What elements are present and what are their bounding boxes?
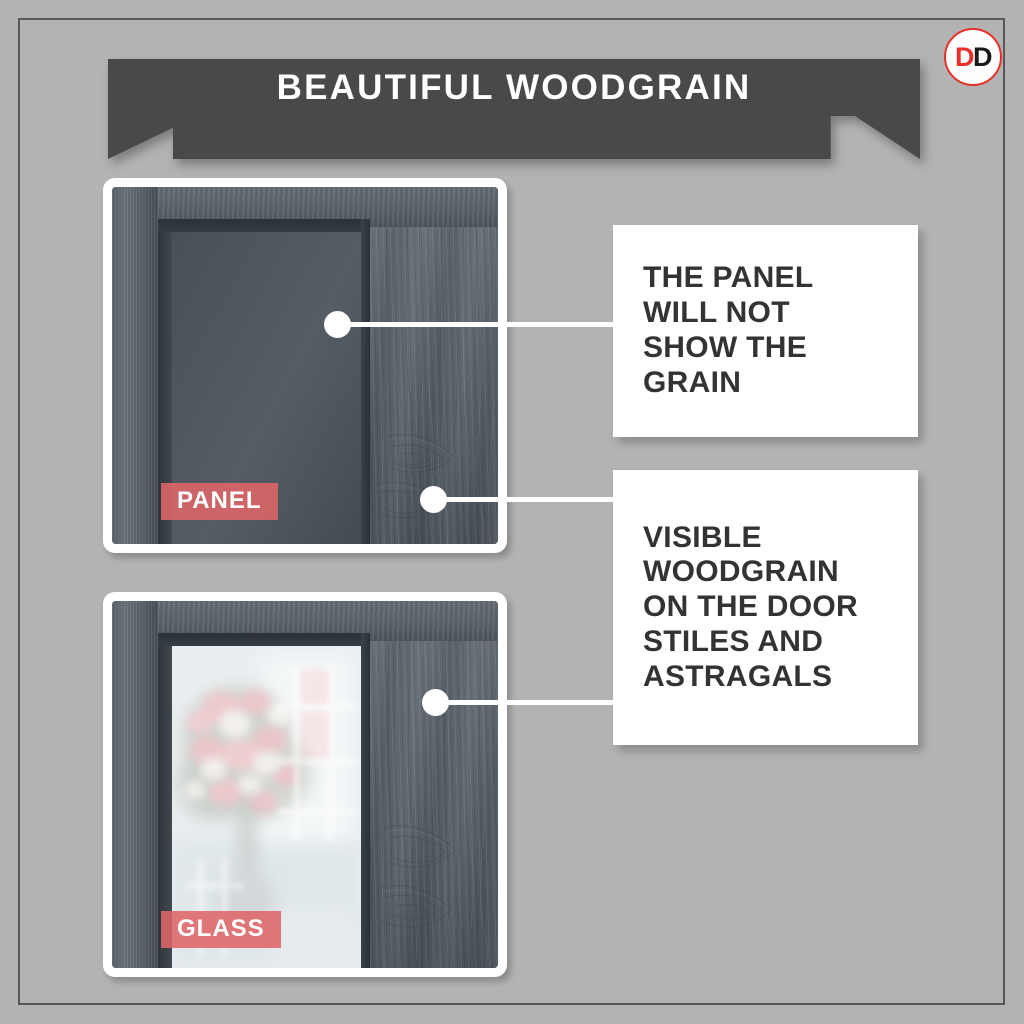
brand-logo-text: DD	[955, 44, 991, 71]
title-banner: BEAUTIFUL WOODGRAIN	[108, 59, 920, 159]
door-stile-woodgrain-glass	[370, 601, 498, 968]
connector-dot-grain-lower	[422, 689, 449, 716]
door-glass-image: GLASS	[112, 601, 498, 968]
woodgrain-texture-icon	[370, 601, 498, 968]
opening-bevel-top	[158, 633, 370, 646]
opening-bevel-right	[361, 219, 370, 544]
panel-tag-label: PANEL	[161, 483, 278, 520]
connector-line-grain-lower	[434, 700, 616, 705]
door-glass-photo-card[interactable]: GLASS	[103, 592, 507, 977]
callout-panel-grain: THE PANEL WILL NOT SHOW THE GRAIN	[613, 225, 918, 437]
door-left-casing	[112, 187, 158, 544]
door-left-casing-glass	[112, 601, 158, 968]
brand-letter-two: D	[973, 42, 991, 72]
callout-panel-text: THE PANEL WILL NOT SHOW THE GRAIN	[643, 261, 888, 400]
brand-letter-one: D	[955, 42, 973, 72]
brand-logo[interactable]: DD	[944, 28, 1002, 86]
page-title: BEAUTIFUL WOODGRAIN	[108, 59, 920, 116]
connector-line-grain-upper	[432, 497, 616, 502]
connector-line-panel	[336, 322, 616, 327]
connector-dot-grain-upper	[420, 486, 447, 513]
door-illustration-glass: GLASS	[112, 601, 498, 968]
opening-bevel-top	[158, 219, 370, 232]
opening-bevel-right	[361, 633, 370, 968]
callout-visible-woodgrain: VISIBLE WOODGRAIN ON THE DOOR STILES AND…	[613, 470, 918, 745]
infographic-stage: DD BEAUTIFUL WOODGRAIN	[0, 0, 1024, 1024]
glass-tag-label: GLASS	[161, 911, 281, 948]
connector-dot-panel	[324, 311, 351, 338]
callout-woodgrain-text: VISIBLE WOODGRAIN ON THE DOOR STILES AND…	[643, 521, 888, 695]
